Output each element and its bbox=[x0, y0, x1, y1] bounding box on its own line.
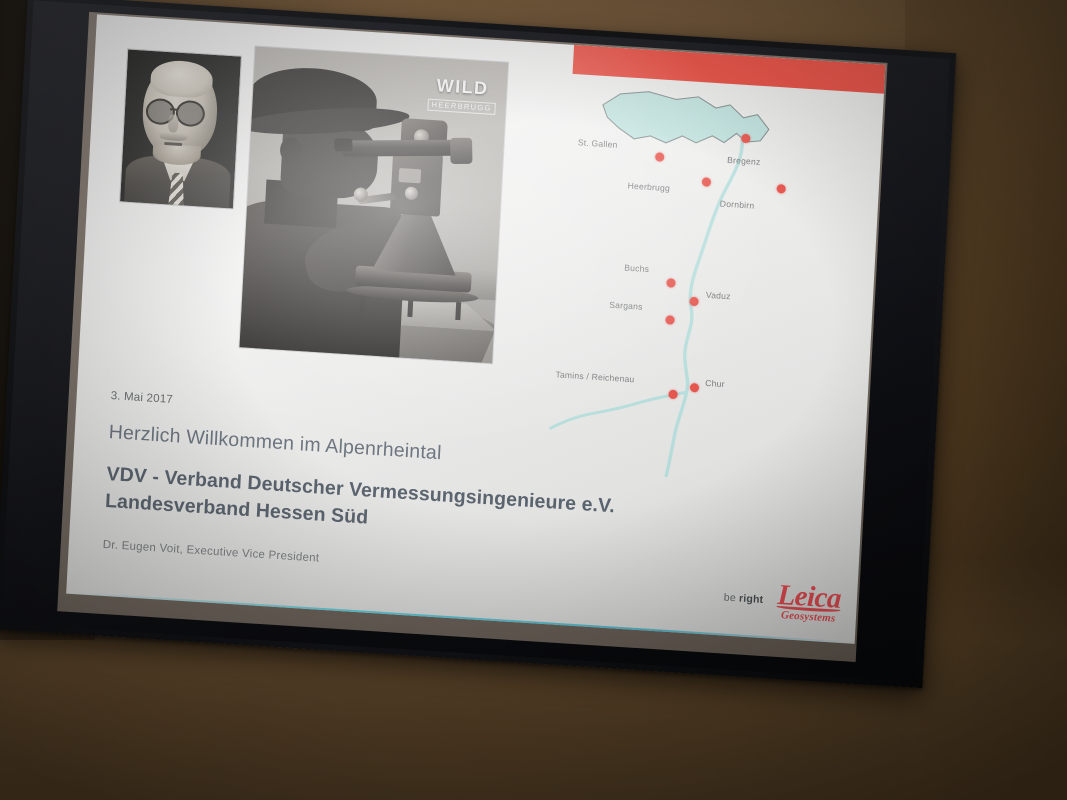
map-city-label: Dornbirn bbox=[720, 198, 755, 210]
leica-branding: be right Leica Geosystems bbox=[723, 578, 842, 625]
be-right-tagline: be right bbox=[724, 591, 764, 605]
tagline-plain: be bbox=[724, 591, 740, 604]
wild-wordmark: WILD bbox=[428, 76, 497, 98]
map-city-label: Vaduz bbox=[706, 290, 731, 302]
leica-logo: Leica Geosystems bbox=[776, 581, 842, 625]
heerbrugg-wordmark: HEERBRUGG bbox=[427, 99, 496, 115]
map-city-label: Sargans bbox=[609, 300, 643, 312]
tagline-bold: right bbox=[739, 592, 764, 606]
wild-heerbrugg-logo: WILD HEERBRUGG bbox=[427, 76, 497, 116]
presentation-slide: WILD HEERBRUGG St. GallenBregenzHeerbrug… bbox=[66, 14, 885, 643]
map-city-label: Bregenz bbox=[727, 155, 761, 167]
map-city-label: Buchs bbox=[624, 263, 649, 275]
projection-screen-assembly: WILD HEERBRUGG St. GallenBregenzHeerbrug… bbox=[0, 0, 966, 693]
map-city-label: Chur bbox=[705, 378, 725, 389]
theodolite-photo: WILD HEERBRUGG bbox=[240, 47, 509, 364]
geosystems-wordmark: Geosystems bbox=[776, 610, 840, 625]
portrait-photo bbox=[120, 49, 241, 208]
